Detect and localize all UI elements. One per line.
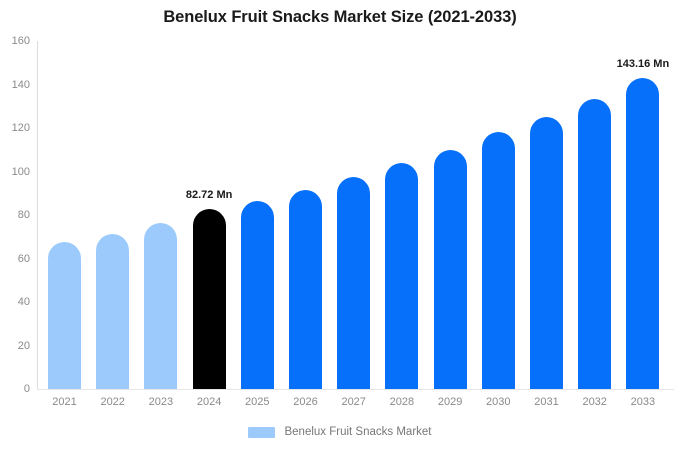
bar-2029[interactable] <box>434 41 467 389</box>
y-axis-tick-140: 140 <box>0 79 30 91</box>
y-axis-tick-60: 60 <box>0 253 30 265</box>
bar-2023[interactable] <box>144 41 177 389</box>
bar-shape-2028 <box>385 163 418 389</box>
y-axis-tick-20: 20 <box>0 340 30 352</box>
chart-title: Benelux Fruit Snacks Market Size (2021-2… <box>0 8 680 27</box>
bar-2032[interactable] <box>578 41 611 389</box>
bar-2031[interactable] <box>530 41 563 389</box>
y-axis-line <box>37 41 38 390</box>
bar-shape-2029 <box>434 150 467 389</box>
bar-2024[interactable] <box>193 41 226 389</box>
x-axis-tick-2028: 2028 <box>390 396 414 408</box>
bar-shape-2032 <box>578 99 611 389</box>
bar-shape-2024 <box>193 209 226 389</box>
x-axis-tick-2021: 2021 <box>52 396 76 408</box>
x-axis-tick-2025: 2025 <box>245 396 269 408</box>
bar-2027[interactable] <box>337 41 370 389</box>
x-axis-tick-2027: 2027 <box>341 396 365 408</box>
x-axis-tick-2030: 2030 <box>486 396 510 408</box>
y-axis-tick-120: 120 <box>0 122 30 134</box>
legend-label-benelux-fruit-snacks-market: Benelux Fruit Snacks Market <box>284 426 431 438</box>
x-axis-tick-2032: 2032 <box>582 396 606 408</box>
x-axis-line <box>37 389 674 390</box>
bar-shape-2025 <box>241 201 274 389</box>
legend-swatch-benelux-fruit-snacks-market <box>248 427 275 438</box>
bar-shape-2022 <box>96 234 129 390</box>
bar-2028[interactable] <box>385 41 418 389</box>
bar-shape-2023 <box>144 223 177 389</box>
bar-2026[interactable] <box>289 41 322 389</box>
x-axis-tick-2023: 2023 <box>149 396 173 408</box>
y-axis-tick-0: 0 <box>0 383 30 395</box>
bar-2030[interactable] <box>482 41 515 389</box>
chart-container: Benelux Fruit Snacks Market Size (2021-2… <box>0 0 680 450</box>
bar-value-label-2033: 143.16 Mn <box>617 58 670 70</box>
x-axis-tick-2024: 2024 <box>197 396 221 408</box>
chart-legend: Benelux Fruit Snacks Market <box>0 426 680 438</box>
x-axis-tick-2031: 2031 <box>534 396 558 408</box>
bar-shape-2033 <box>626 78 659 389</box>
x-axis-tick-2022: 2022 <box>100 396 124 408</box>
bar-2021[interactable] <box>48 41 81 389</box>
x-axis-tick-2026: 2026 <box>293 396 317 408</box>
bar-2025[interactable] <box>241 41 274 389</box>
bar-shape-2026 <box>289 190 322 389</box>
bar-shape-2030 <box>482 132 515 389</box>
bar-value-label-2024: 82.72 Mn <box>186 189 232 201</box>
bar-shape-2021 <box>48 242 81 389</box>
y-axis-tick-80: 80 <box>0 209 30 221</box>
bar-2033[interactable] <box>626 41 659 389</box>
bar-shape-2031 <box>530 117 563 389</box>
bar-2022[interactable] <box>96 41 129 389</box>
y-axis-tick-40: 40 <box>0 296 30 308</box>
bar-shape-2027 <box>337 177 370 389</box>
x-axis-tick-2033: 2033 <box>631 396 655 408</box>
x-axis-tick-2029: 2029 <box>438 396 462 408</box>
y-axis-tick-160: 160 <box>0 35 30 47</box>
y-axis-tick-100: 100 <box>0 166 30 178</box>
